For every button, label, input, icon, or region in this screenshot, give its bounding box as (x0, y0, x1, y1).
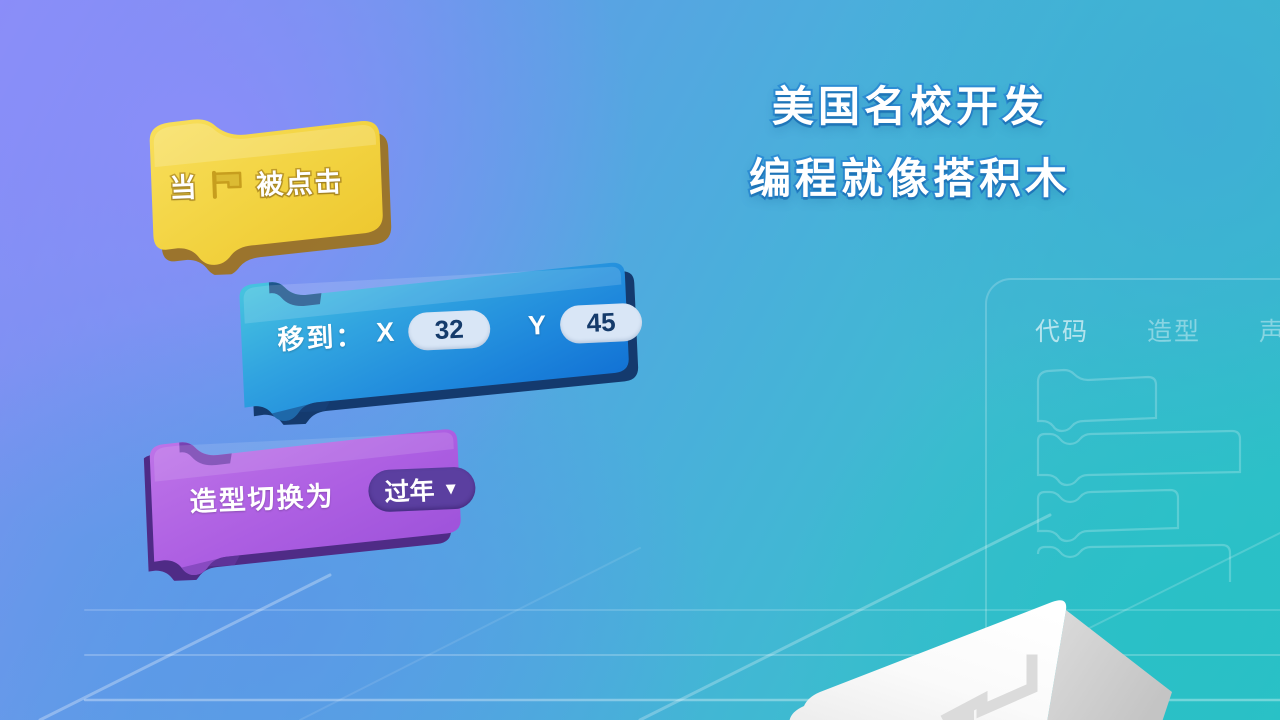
chevron-down-icon: ▼ (442, 479, 460, 497)
block-looks-costume-value: 过年 (384, 471, 435, 509)
block-motion-label: 移到： (277, 314, 366, 357)
headline-group: 美国名校开发 编程就像搭积木 (600, 86, 1220, 200)
block-event-when-flag-clicked[interactable]: 当 被点击 (129, 108, 405, 283)
block-event-suffix-label: 被点击 (256, 160, 344, 202)
block-motion-y-prefix: Y (527, 310, 548, 342)
block-looks-switch-costume[interactable]: 造型切换为 过年 ▼ (143, 418, 479, 587)
block-motion-go-to-xy[interactable]: 移到： X 32 Y 45 (232, 253, 649, 431)
promo-canvas: 代码 造型 声音 美国名校开发 编程就像搭积木 (0, 0, 1280, 720)
block-motion-x-field[interactable]: 32 (407, 309, 491, 351)
block-event-prefix-label: 当 (169, 165, 199, 205)
block-looks-costume-dropdown[interactable]: 过年 ▼ (368, 466, 477, 512)
green-flag-icon (210, 168, 245, 199)
block-looks-label: 造型切换为 (189, 474, 336, 519)
block-motion-y-field[interactable]: 45 (559, 302, 643, 344)
headline-line-1: 美国名校开发 (600, 86, 1220, 128)
block-event-content: 当 被点击 (169, 160, 344, 206)
block-motion-x-prefix: X (376, 317, 397, 349)
headline-line-2: 编程就像搭积木 (600, 158, 1220, 200)
